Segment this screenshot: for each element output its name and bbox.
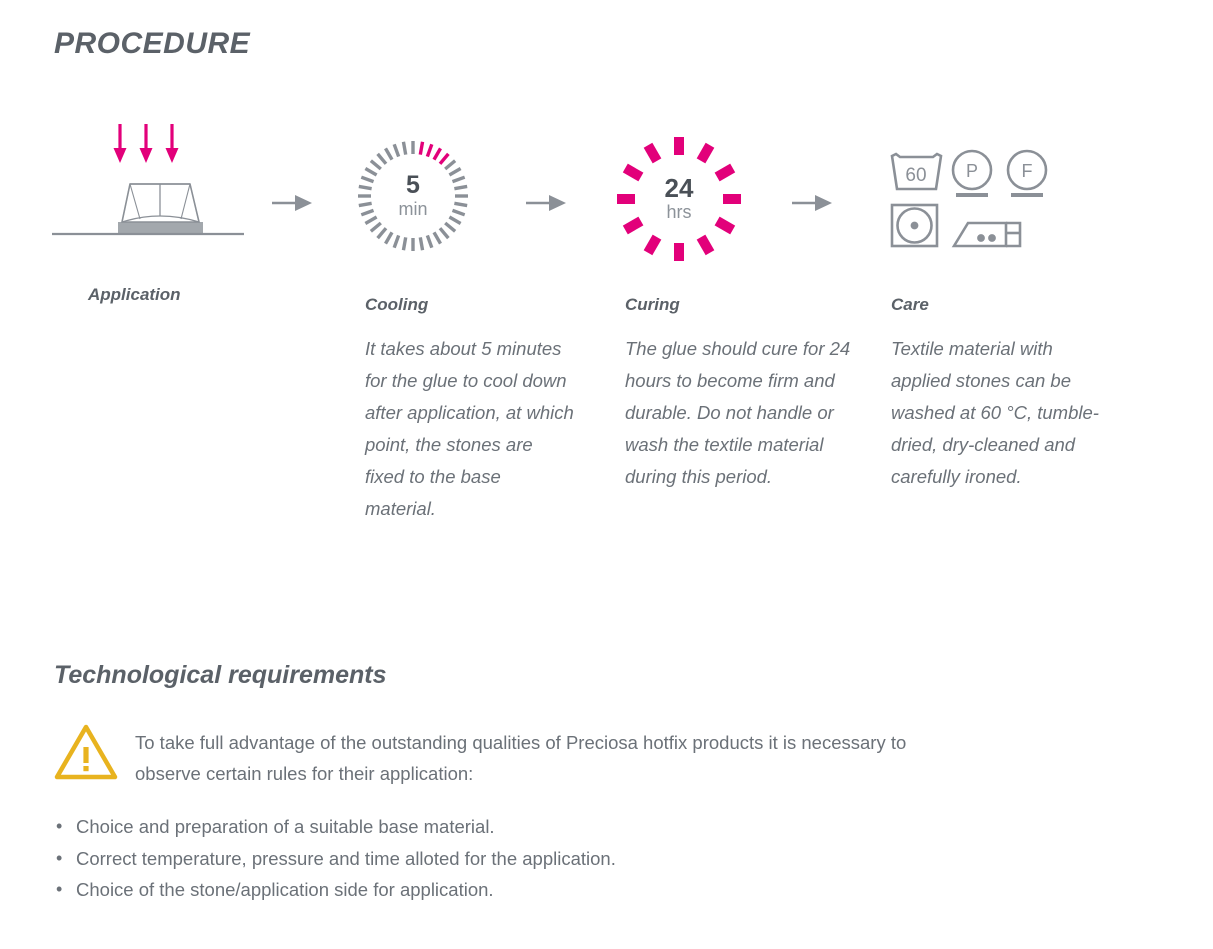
requirements-list: Choice and preparation of a suitable bas… [54, 811, 616, 906]
dial-tick [394, 144, 398, 156]
dial-tick [440, 228, 448, 238]
step-heading-cooling: Cooling [365, 295, 428, 315]
dial-tick [365, 217, 376, 224]
care-symbols-icon: 60 P F [886, 143, 1061, 253]
dial-tick [445, 161, 455, 169]
burst-tick [701, 145, 710, 161]
dial-tick-active [434, 148, 441, 159]
dial-tick [378, 228, 386, 238]
burst-tick [648, 145, 657, 161]
dial-tick-active [440, 154, 448, 164]
dial-tick [454, 186, 467, 188]
warning-triangle-icon [54, 723, 118, 786]
procedure-page: PROCEDURE [0, 0, 1213, 949]
dial-tick [403, 237, 405, 250]
dial-tick [394, 235, 398, 247]
step-body-care: Textile material with applied stones can… [891, 333, 1106, 493]
section-title-technological-requirements: Technological requirements [54, 661, 386, 690]
dial-tick [371, 161, 381, 169]
dial-tick [378, 154, 386, 164]
dial-tick-active [420, 142, 422, 155]
dial-tick [359, 186, 372, 188]
dial-tick [403, 142, 405, 155]
dial-tick [420, 237, 422, 250]
dial-tick-active [427, 144, 431, 156]
list-item: Choice of the stone/application side for… [54, 874, 616, 906]
dial-tick [365, 169, 376, 176]
step-heading-care: Care [891, 295, 929, 315]
dial-tick [359, 203, 372, 205]
burst-tick [648, 237, 657, 253]
step-heading-curing: Curing [625, 295, 680, 315]
curing-burst-icon: 24 hrs [613, 133, 745, 265]
arrow-right-icon [790, 190, 835, 221]
arrow-right-icon [270, 190, 315, 221]
dial-tick [361, 210, 373, 214]
dial-tick [449, 169, 460, 176]
dryclean-p-label: P [966, 161, 978, 181]
dial-tick [449, 217, 460, 224]
dial-tick [361, 177, 373, 181]
burst-tick [625, 168, 641, 177]
step-body-cooling: It takes about 5 minutes for the glue to… [365, 333, 575, 525]
dial-tick [452, 210, 464, 214]
dial-tick [454, 203, 467, 205]
burst-tick [625, 221, 641, 230]
arrow-right-icon [524, 190, 569, 221]
list-item: Choice and preparation of a suitable bas… [54, 811, 616, 843]
dial-tick [427, 235, 431, 247]
list-item: Correct temperature, pressure and time a… [54, 843, 616, 875]
dial-tick [371, 223, 381, 231]
page-title: PROCEDURE [54, 27, 250, 61]
stone-application-icon [48, 122, 258, 252]
dial-tick [445, 223, 455, 231]
burst-tick [717, 221, 733, 230]
cooling-dial-icon: 5 min [355, 138, 471, 254]
dial-tick [452, 177, 464, 181]
dryclean-f-label: F [1022, 161, 1033, 181]
dial-tick [386, 232, 393, 243]
step-heading-application: Application [88, 285, 181, 305]
dial-tick [386, 148, 393, 159]
burst-tick [701, 237, 710, 253]
wash-temp-label: 60 [905, 165, 926, 186]
burst-tick [717, 168, 733, 177]
step-body-curing: The glue should cure for 24 hours to bec… [625, 333, 853, 493]
dial-tick [434, 232, 441, 243]
warning-text: To take full advantage of the outstandin… [135, 727, 935, 789]
